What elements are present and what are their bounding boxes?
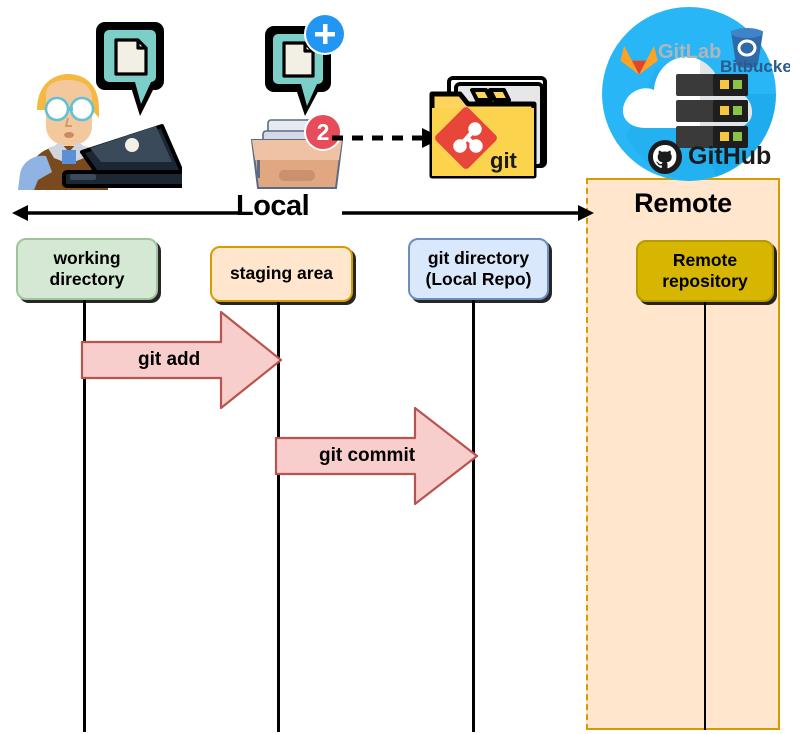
node-remote-repository-label: Remote repository [662, 250, 748, 293]
svg-text:git: git [490, 148, 518, 173]
node-staging-area-label: staging area [230, 263, 333, 284]
developer-at-laptop-icon [4, 22, 182, 190]
local-zone-label: Local [236, 190, 309, 223]
remote-zone-label: Remote [586, 188, 780, 219]
svg-text:GitHub: GitHub [688, 142, 771, 170]
arrow-git-add[interactable]: git add [79, 308, 285, 412]
node-working-directory[interactable]: working directory [16, 238, 158, 300]
lifeline-remote-repository [704, 302, 706, 730]
node-remote-repository[interactable]: Remote repository [636, 240, 774, 302]
svg-text:2: 2 [317, 119, 330, 145]
cloud-remote-hosting-icon: GitLab Bitbucket [596, 6, 790, 184]
svg-text:GitLab: GitLab [658, 41, 721, 63]
lifeline-git-directory [472, 300, 475, 732]
staging-file-tray-icon: 2 [243, 12, 371, 190]
arrow-git-add-label: git add [138, 349, 200, 371]
arrow-git-commit-label: git commit [319, 445, 415, 467]
node-git-directory[interactable]: git directory (Local Repo) [408, 238, 549, 300]
git-folder-icon: git [424, 72, 558, 184]
svg-text:Bitbucket: Bitbucket [720, 57, 790, 76]
arrow-git-commit[interactable]: git commit [273, 404, 481, 508]
node-git-directory-label: git directory (Local Repo) [426, 248, 532, 291]
git-workflow-diagram: Remote [0, 0, 800, 734]
node-working-directory-label: working directory [50, 248, 125, 291]
node-staging-area[interactable]: staging area [210, 246, 353, 302]
